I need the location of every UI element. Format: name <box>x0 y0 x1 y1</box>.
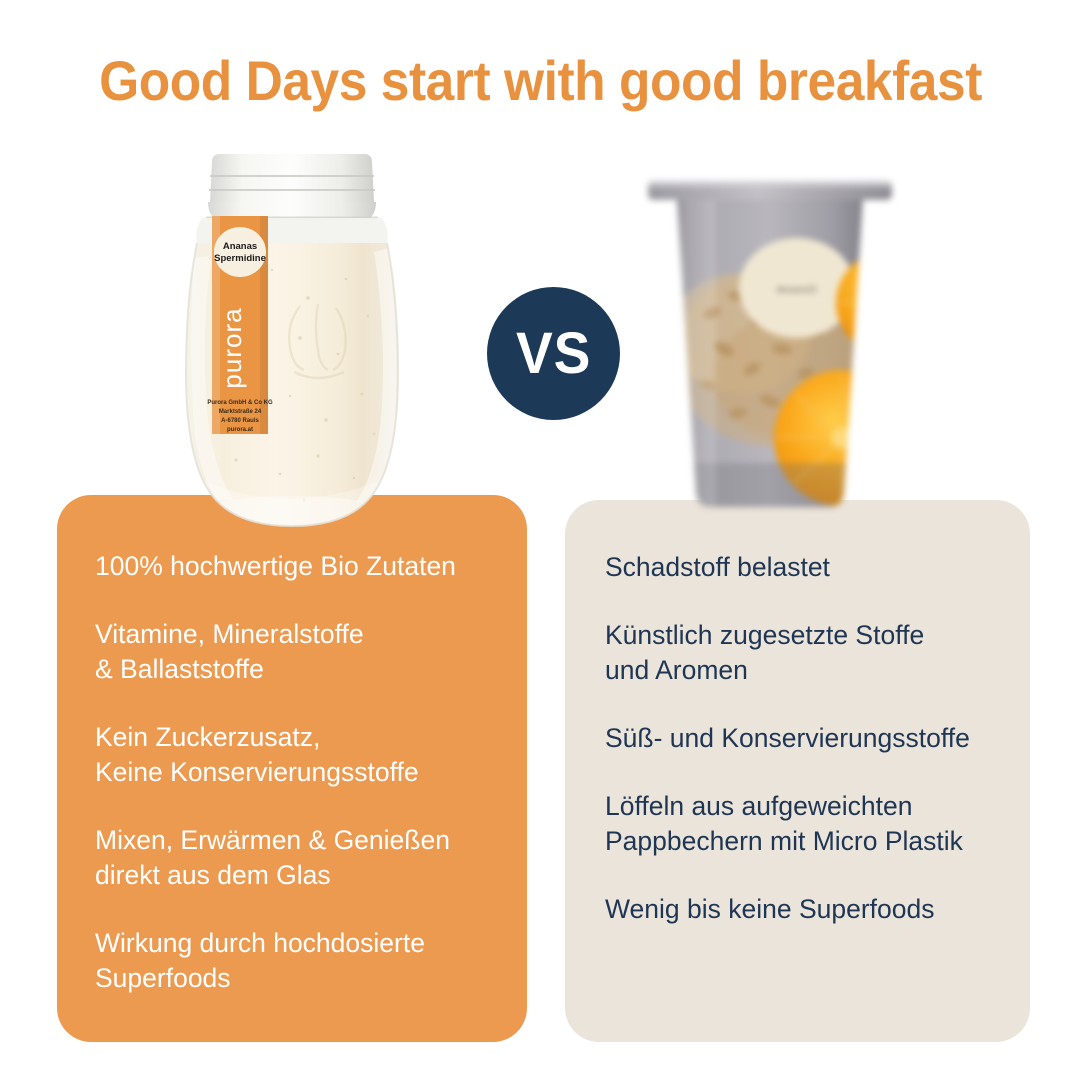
list-item: Mixen, Erwärmen & Genießen direkt aus de… <box>95 823 505 893</box>
cup-badge-label: muesli <box>777 284 818 296</box>
jar-fineprint-line1: Purora GmbH & Co KG <box>207 400 273 406</box>
list-item: Wirkung durch hochdosierte Superfoods <box>95 926 505 996</box>
list-item: Schadstoff belastet <box>605 550 1008 585</box>
list-item: Vitamine, Mineralstoffe & Ballaststoffe <box>95 617 505 687</box>
jar-brand-name: purora <box>217 307 247 388</box>
list-item: Süß- und Konservierungsstoffe <box>605 721 1008 756</box>
versus-badge: VS <box>487 287 620 420</box>
drawbacks-list: Schadstoff belastet Künstlich zugesetzte… <box>605 550 1008 927</box>
list-item: Künstlich zugesetzte Stoffe und Aromen <box>605 618 1008 688</box>
list-item: Kein Zuckerzusatz, Keine Konservierungss… <box>95 720 505 790</box>
page-title: Good Days start with good breakfast <box>43 48 1038 113</box>
drawbacks-card-competitor: Schadstoff belastet Künstlich zugesetzte… <box>565 500 1030 1042</box>
jar-variant-line1: Ananas <box>223 241 257 252</box>
benefits-card-purora: 100% hochwertige Bio Zutaten Vitamine, M… <box>57 495 527 1042</box>
jar-fineprint-line2: Marktstraße 24 <box>219 409 262 415</box>
jar-fineprint-line4: purora.at <box>227 427 253 433</box>
purora-jar-image: Ananas Spermidine purora Purora GmbH & C… <box>168 148 416 546</box>
jar-variant-line2: Spermidine <box>214 253 266 264</box>
jar-fineprint-line3: A-6780 Rauls <box>221 418 259 424</box>
list-item: 100% hochwertige Bio Zutaten <box>95 549 505 584</box>
list-item: Wenig bis keine Superfoods <box>605 892 1008 927</box>
jar-label: Ananas Spermidine purora Purora GmbH & C… <box>207 216 273 434</box>
competitor-cup-image: muesli <box>620 163 920 531</box>
list-item: Löffeln aus aufgeweichten Pappbechern mi… <box>605 789 1008 859</box>
versus-label: VS <box>516 320 591 387</box>
comparison-graphic: Good Days start with good breakfast 100%… <box>0 0 1081 1081</box>
benefits-list: 100% hochwertige Bio Zutaten Vitamine, M… <box>95 549 505 996</box>
